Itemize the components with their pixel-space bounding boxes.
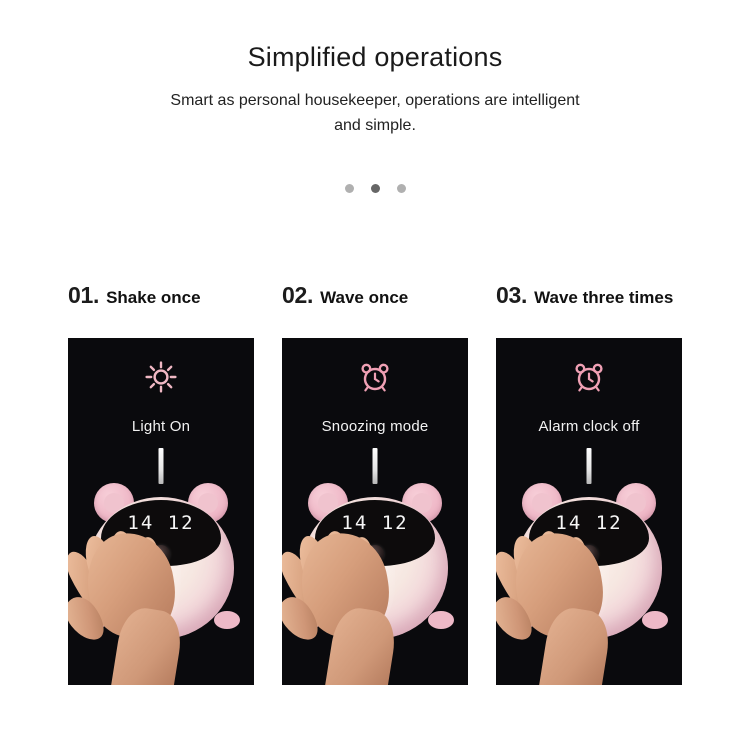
- hand-gesture-3: [498, 515, 626, 685]
- step-card-1: 01.Shake once L: [68, 282, 254, 685]
- page-subtitle: Smart as personal housekeeper, operation…: [160, 88, 590, 138]
- step-2-label: Wave once: [320, 288, 408, 307]
- step-3-product-photo: 14 12: [496, 475, 682, 685]
- step-2-panel: Snoozing mode 14 12: [282, 338, 468, 685]
- bear-foot-right: [428, 611, 454, 629]
- alarm-clock-icon: [282, 360, 468, 394]
- step-3-heading: 03.Wave three times: [496, 282, 682, 338]
- pagination-dot-3[interactable]: [397, 184, 406, 193]
- alarm-clock-icon: [496, 360, 682, 394]
- bear-foot-right: [642, 611, 668, 629]
- steps-row: 01.Shake once L: [0, 282, 750, 685]
- step-card-3: 03.Wave three times Alarm clock off: [496, 282, 682, 685]
- step-3-caption: Alarm clock off: [496, 418, 682, 435]
- step-3-panel: Alarm clock off 14 12: [496, 338, 682, 685]
- step-2-product-photo: 14 12: [282, 475, 468, 685]
- step-1-caption: Light On: [68, 418, 254, 435]
- step-2-number: 02.: [282, 282, 313, 308]
- step-2-heading: 02.Wave once: [282, 282, 468, 338]
- step-3-label: Wave three times: [534, 288, 673, 307]
- pagination-dot-2[interactable]: [371, 184, 380, 193]
- page-header: Simplified operations Smart as personal …: [0, 0, 750, 138]
- hand-gesture-1: [70, 515, 198, 685]
- pagination-dots: [0, 184, 750, 193]
- step-1-label: Shake once: [106, 288, 201, 307]
- step-1-number: 01.: [68, 282, 99, 308]
- page-title: Simplified operations: [0, 40, 750, 74]
- hand-gesture-2: [284, 515, 412, 685]
- step-2-caption: Snoozing mode: [282, 418, 468, 435]
- sun-brightness-icon: [68, 360, 254, 394]
- pagination-dot-1[interactable]: [345, 184, 354, 193]
- bear-foot-right: [214, 611, 240, 629]
- step-1-heading: 01.Shake once: [68, 282, 254, 338]
- step-3-number: 03.: [496, 282, 527, 308]
- step-card-2: 02.Wave once Snoozing mode: [282, 282, 468, 685]
- step-1-panel: Light On 14 12: [68, 338, 254, 685]
- step-1-product-photo: 14 12: [68, 475, 254, 685]
